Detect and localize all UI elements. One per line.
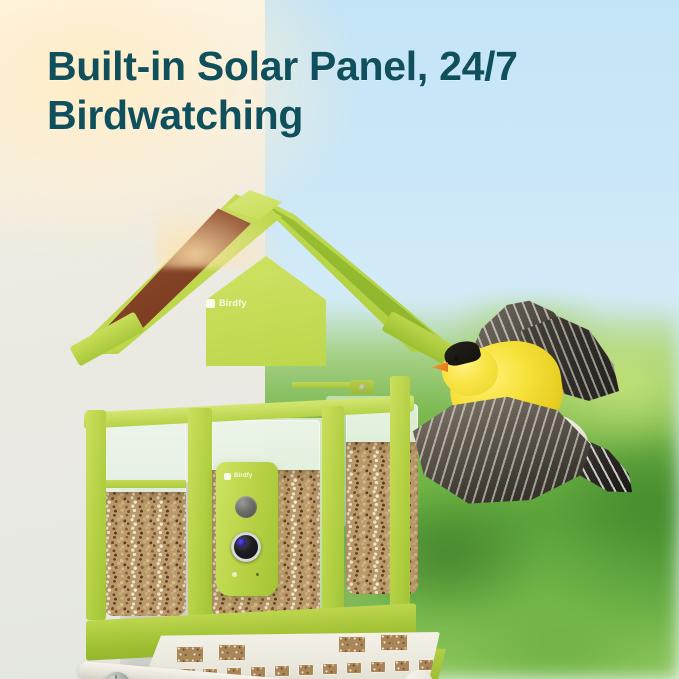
headline-line-2: Birdwatching: [47, 91, 647, 140]
page-title: Built-in Solar Panel, 24/7 Birdwatching: [47, 42, 647, 140]
tray-seed-slot: [394, 660, 410, 672]
bird-logo-icon: [224, 473, 231, 480]
door-latch: [350, 380, 374, 394]
camera-module: Birdfy: [216, 462, 278, 596]
brand-logo: Birdfy: [206, 298, 247, 308]
tray-seed-slot: [338, 636, 366, 653]
gable-face: [206, 256, 326, 366]
microphone-icon: [256, 573, 259, 576]
hopper-left: [104, 418, 186, 616]
hopper-divider: [104, 480, 186, 488]
status-led-icon: [232, 572, 237, 577]
bird-logo-icon: [206, 299, 215, 308]
post-mid-right: [322, 406, 344, 622]
tray-seed-slot: [380, 634, 408, 651]
bird-beak: [432, 362, 448, 372]
camera-brand-name: Birdfy: [234, 473, 253, 479]
tray-seed-slot: [370, 661, 386, 673]
headline-line-1: Built-in Solar Panel, 24/7: [47, 43, 518, 89]
tray-seed-slot: [298, 664, 314, 676]
motion-sensor-icon: [235, 496, 257, 518]
camera-lens-icon: [231, 532, 261, 562]
tray-seed-slot: [346, 662, 362, 674]
door-hinge-bar: [292, 382, 354, 388]
tray-seed-slot: [218, 644, 246, 661]
bird-eye: [454, 356, 459, 361]
tray-seed-slot: [274, 665, 290, 677]
bird-lower-wing: [403, 386, 594, 513]
post-front-left: [86, 410, 106, 620]
brand-name: Birdfy: [219, 298, 247, 308]
tray-seed-slot: [322, 663, 338, 675]
goldfinch-bird: [398, 296, 628, 546]
product-hero-image: Built-in Solar Panel, 24/7 Birdwatching …: [0, 0, 679, 679]
camera-brand-logo: Birdfy: [224, 471, 270, 481]
post-mid-left: [188, 408, 212, 620]
birdseed-fill: [104, 492, 186, 616]
tray-seed-slot: [176, 646, 204, 663]
